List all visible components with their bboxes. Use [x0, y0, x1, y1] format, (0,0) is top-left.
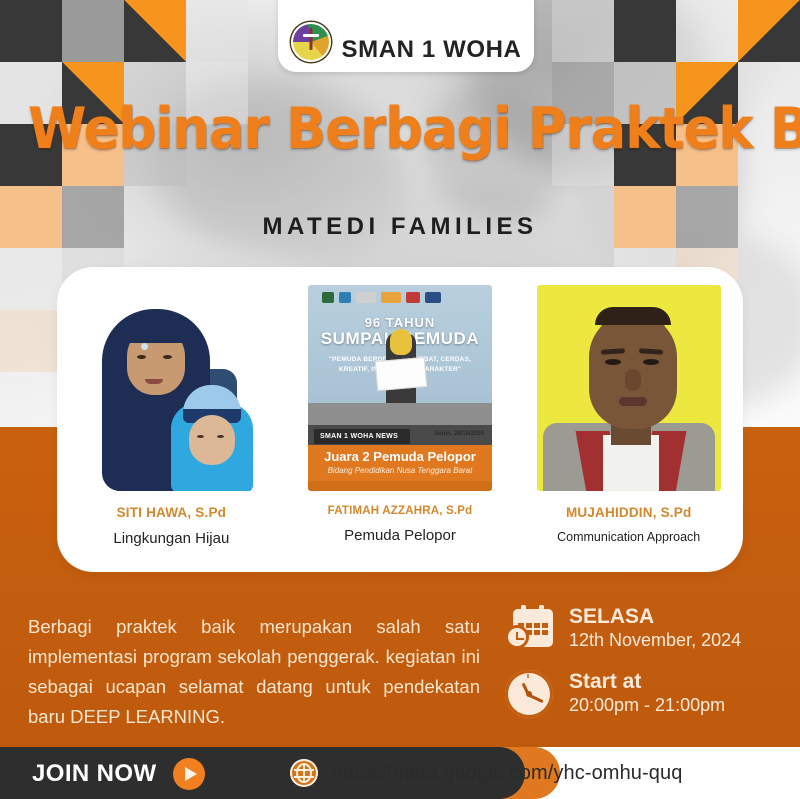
photo-award-field: Bidang Pendidikan Nusa Tenggara Barat: [308, 466, 492, 475]
speaker-role: Communication Approach: [557, 530, 700, 544]
speaker-item: 96 TAHUN SUMPAH PEMUDA "PEMUDA BERDEDIKA…: [286, 267, 515, 572]
footer-bar: JOIN NOW https://meet.google.com/yhc-omh…: [0, 747, 800, 799]
speakers-card: SITI HAWA, S.Pd Lingkungan Hijau 96 TAHU…: [57, 267, 743, 572]
speaker-photo: [79, 285, 263, 491]
join-now-label: JOIN NOW: [32, 760, 157, 788]
meet-link-row[interactable]: https://meet.google.com/yhc-omhu-quq: [290, 759, 682, 787]
webinar-poster: SMAN 1 WOHA Webinar Berbagi Praktek Baik…: [0, 0, 800, 799]
calendar-clock-icon: [505, 605, 553, 651]
photo-news-date: Senin, 28/10/2024: [434, 431, 484, 437]
speaker-name: SITI HAWA, S.Pd: [117, 505, 227, 520]
join-now-button[interactable]: JOIN NOW: [32, 758, 205, 790]
speaker-item: SITI HAWA, S.Pd Lingkungan Hijau: [57, 267, 286, 572]
speaker-item: MUJAHIDDIN, S.Pd Communication Approach: [514, 267, 743, 572]
start-at-label: Start at: [569, 670, 725, 694]
clock-icon: [505, 670, 553, 718]
speaker-role: Lingkungan Hijau: [113, 530, 229, 547]
event-date-row: SELASA 12th November, 2024: [505, 605, 790, 652]
page-title: Webinar Berbagi Praktek Baik: [28, 101, 772, 158]
meet-link[interactable]: https://meet.google.com/yhc-omhu-quq: [332, 762, 682, 785]
speaker-photo: [537, 285, 721, 491]
page-subtitle: MATEDI FAMILIES: [0, 213, 800, 241]
speaker-name: FATIMAH AZZAHRA, S.Pd: [328, 505, 473, 517]
event-date: 12th November, 2024: [569, 629, 741, 652]
speaker-role: Pemuda Pelopor: [344, 527, 456, 544]
photo-news-label: SMAN 1 WOHA NEWS: [314, 429, 410, 444]
event-time: 20:00pm - 21:00pm: [569, 694, 725, 717]
speaker-name: MUJAHIDDIN, S.Pd: [566, 505, 691, 520]
school-name: SMAN 1 WOHA: [342, 38, 522, 62]
globe-icon: [290, 759, 318, 787]
event-info-block: SELASA 12th November, 2024 Start at 20:0…: [505, 605, 790, 736]
event-time-row: Start at 20:00pm - 21:00pm: [505, 670, 790, 718]
speakers-list: SITI HAWA, S.Pd Lingkungan Hijau 96 TAHU…: [57, 267, 743, 572]
school-header-badge: SMAN 1 WOHA: [278, 0, 534, 72]
school-emblem-icon: [291, 22, 331, 62]
description-text: Berbagi praktek baik merupakan salah sat…: [28, 612, 480, 732]
play-icon[interactable]: [173, 758, 205, 790]
photo-years-text: 96 TAHUN: [308, 315, 492, 330]
event-day: SELASA: [569, 605, 741, 629]
speaker-photo: 96 TAHUN SUMPAH PEMUDA "PEMUDA BERDEDIKA…: [308, 285, 492, 491]
photo-award-text: Juara 2 Pemuda Pelopor: [308, 449, 492, 464]
